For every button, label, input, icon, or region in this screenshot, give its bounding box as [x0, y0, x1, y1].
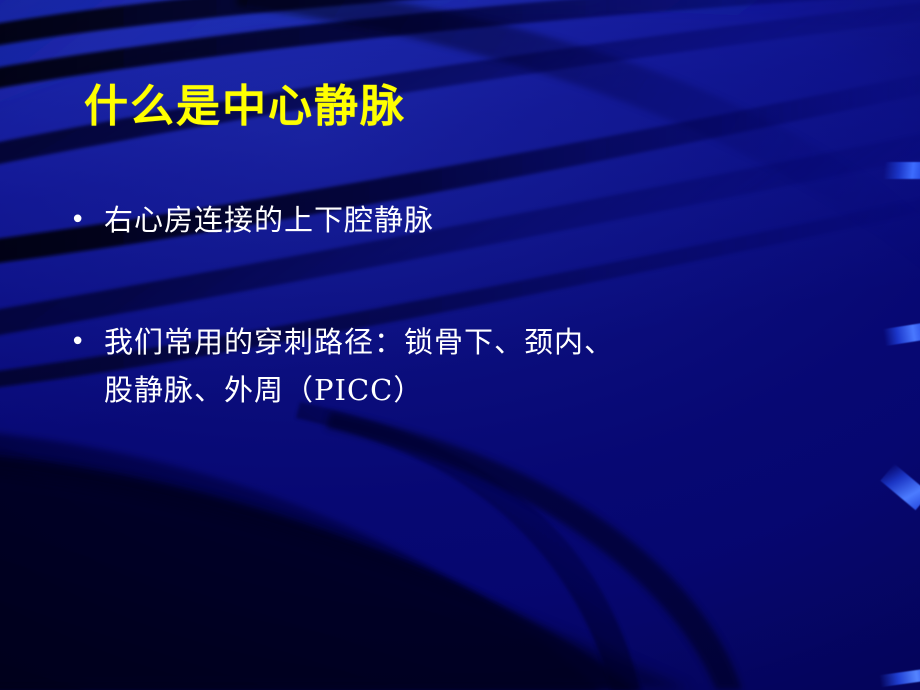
bullet-marker-icon: •	[70, 196, 104, 244]
presentation-slide: 什么是中心静脉 • 右心房连接的上下腔静脉 • 我们常用的穿刺路径：锁骨下、颈内…	[0, 0, 920, 690]
slide-content: 什么是中心静脉 • 右心房连接的上下腔静脉 • 我们常用的穿刺路径：锁骨下、颈内…	[0, 0, 920, 690]
slide-body: • 右心房连接的上下腔静脉 • 我们常用的穿刺路径：锁骨下、颈内、 股静脉、外周…	[70, 196, 860, 414]
bullet-item-1: • 右心房连接的上下腔静脉	[70, 196, 860, 244]
bullet-marker-icon: •	[70, 318, 104, 366]
bullet-text-1: 右心房连接的上下腔静脉	[104, 196, 860, 244]
bullet-text-2: 我们常用的穿刺路径：锁骨下、颈内、 股静脉、外周（PICC）	[104, 318, 860, 414]
slide-title: 什么是中心静脉	[84, 82, 406, 133]
bullet-item-2: • 我们常用的穿刺路径：锁骨下、颈内、 股静脉、外周（PICC）	[70, 318, 860, 414]
